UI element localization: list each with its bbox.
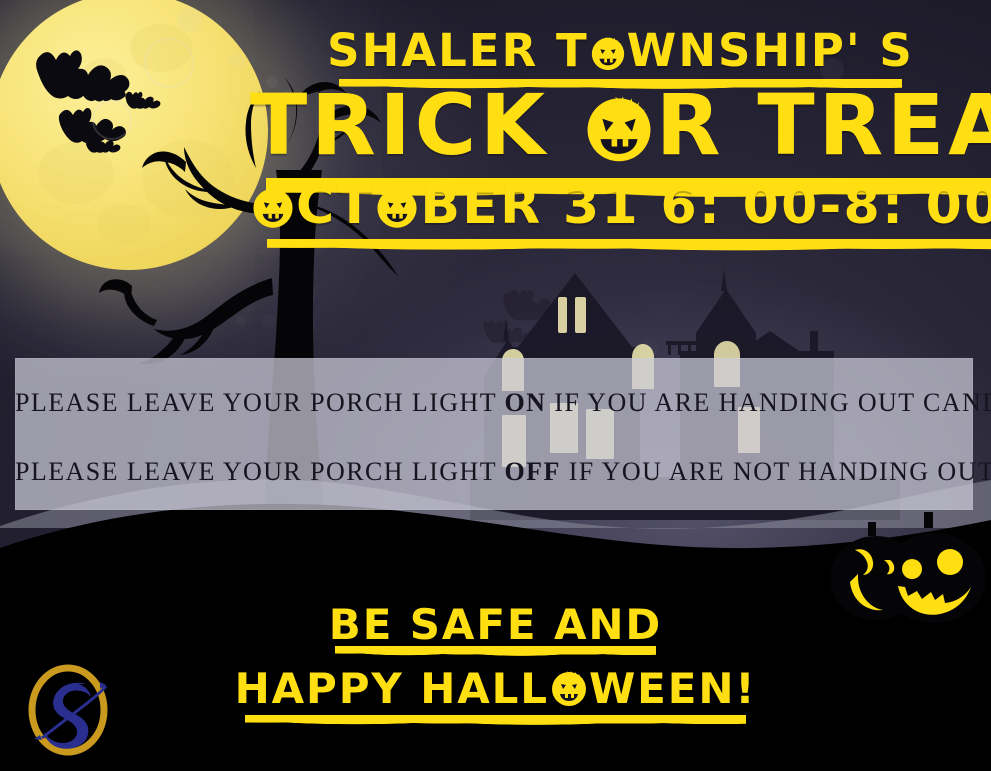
footer-line-1: BE SAFE AND (0, 604, 991, 646)
pumpkin-letter-o-icon (589, 34, 627, 79)
pumpkin-letter-o-icon (549, 668, 589, 715)
notice-line1-after: IF YOU ARE HANDING OUT CANDY. (546, 388, 991, 417)
headline-line2-text-b: R TREAT (656, 76, 991, 174)
headline-line3-text-b: BER 31 6: 00-8: 00PM (420, 176, 991, 236)
porch-light-notice-panel: PLEASE LEAVE YOUR PORCH LIGHT ON IF YOU … (15, 358, 973, 510)
pumpkin-letter-o-icon (582, 91, 656, 178)
notice-line1-bold: ON (505, 388, 547, 417)
footer-line2-text-a: HAPPY HALL (235, 664, 549, 713)
headline-line1-text-b: WNSHIP' S (627, 24, 914, 77)
pumpkin-letter-o-icon (374, 184, 420, 239)
pumpkin-letter-o-icon (250, 184, 296, 239)
headline-block: SHALER TWNSHIP' S TRICK R TREAT CTBER 31… (250, 14, 991, 284)
halloween-flyer: SHALER TWNSHIP' S TRICK R TREAT CTBER 31… (0, 0, 991, 771)
notice-line2-after: IF YOU ARE NOT HANDING OUT CANDY. (561, 457, 991, 486)
footer-line2-text-b: WEEN! (589, 664, 756, 713)
headline-line1-text-a: SHALER T (327, 24, 589, 77)
notice-line-1: PLEASE LEAVE YOUR PORCH LIGHT ON IF YOU … (15, 388, 973, 418)
headline-line-2: TRICK R TREAT (250, 83, 991, 178)
footer-line1-text: BE SAFE AND (329, 600, 662, 649)
footer-line-2: HAPPY HALLWEEN! (0, 668, 991, 715)
headline-line2-text-a: TRICK (250, 76, 582, 174)
headline-line3-text-mid: CT (296, 176, 374, 236)
headline-line-1: SHALER TWNSHIP' S (250, 14, 991, 79)
notice-line2-bold: OFF (505, 457, 561, 486)
footer-block: BE SAFE AND HAPPY HALLWEEN! (0, 604, 991, 715)
shaler-township-logo (18, 660, 118, 760)
notice-line2-before: PLEASE LEAVE YOUR PORCH LIGHT (15, 457, 505, 486)
notice-line1-before: PLEASE LEAVE YOUR PORCH LIGHT (15, 388, 505, 417)
headline-line-3: CTBER 31 6: 00-8: 00PM (250, 180, 991, 239)
notice-line-2: PLEASE LEAVE YOUR PORCH LIGHT OFF IF YOU… (15, 457, 973, 487)
